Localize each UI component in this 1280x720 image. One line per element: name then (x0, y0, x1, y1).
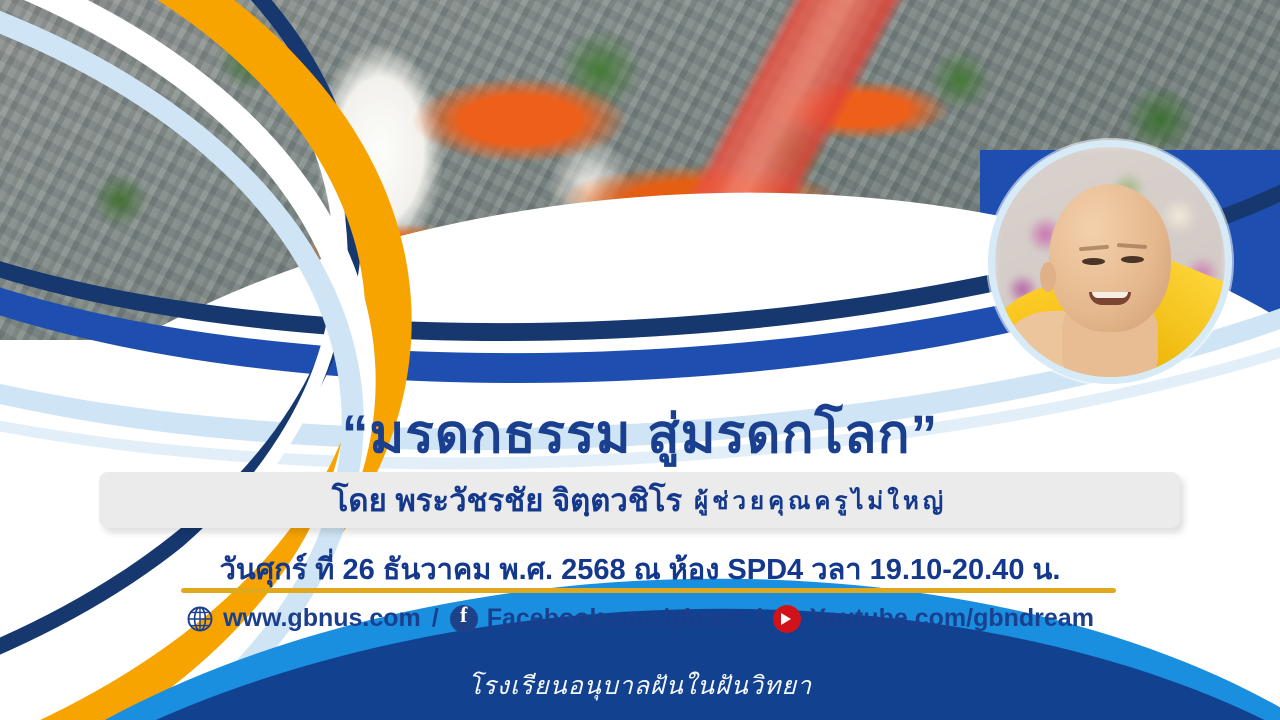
portrait-eye-left (1082, 258, 1105, 265)
facebook-link[interactable]: Facebook.com/gbnus (487, 604, 744, 633)
event-dateline: วันศุกร์ ที่ 26 ธันวาคม พ.ศ. 2568 ณ ห้อง… (0, 546, 1280, 592)
gold-divider (181, 588, 1116, 593)
portrait-eye-right (1121, 256, 1144, 263)
speaker-name: โดย พระวัชรชัย จิตฺตวชิโร (332, 475, 682, 525)
speaker-line: โดย พระวัชรชัย จิตฺตวชิโร ผู้ช่วยคุณครูไ… (99, 472, 1180, 528)
portrait-brow-right (1117, 243, 1147, 249)
links-row: www.gbnus.com / Facebook.com/gbnus / You… (0, 604, 1280, 633)
youtube-icon[interactable] (773, 605, 801, 633)
poster-canvas: “มรดกธรรม สู่มรดกโลก” โดย พระวัชรชัย จิต… (0, 0, 1280, 720)
portrait-head (1049, 184, 1171, 332)
globe-icon (186, 605, 214, 633)
speaker-role: ผู้ช่วยคุณครูไม่ใหญ่ (694, 481, 947, 520)
monk-portrait-photo (988, 140, 1232, 384)
portrait-teeth (1092, 292, 1128, 298)
portrait-brow-left (1079, 244, 1109, 251)
page-title: “มรดกธรรม สู่มรดกโลก” (0, 392, 1280, 476)
link-separator-2: / (755, 604, 762, 633)
youtube-link[interactable]: Youtube.com/gbndream (810, 604, 1094, 633)
portrait-ear (1040, 262, 1056, 292)
link-separator-1: / (432, 604, 439, 633)
facebook-icon[interactable] (450, 605, 478, 633)
website-link[interactable]: www.gbnus.com (223, 604, 421, 633)
handwritten-school-name: โรงเรียนอนุบาลฝันในฝันวิทยา (0, 666, 1280, 706)
portrait-mouth (1089, 292, 1131, 305)
